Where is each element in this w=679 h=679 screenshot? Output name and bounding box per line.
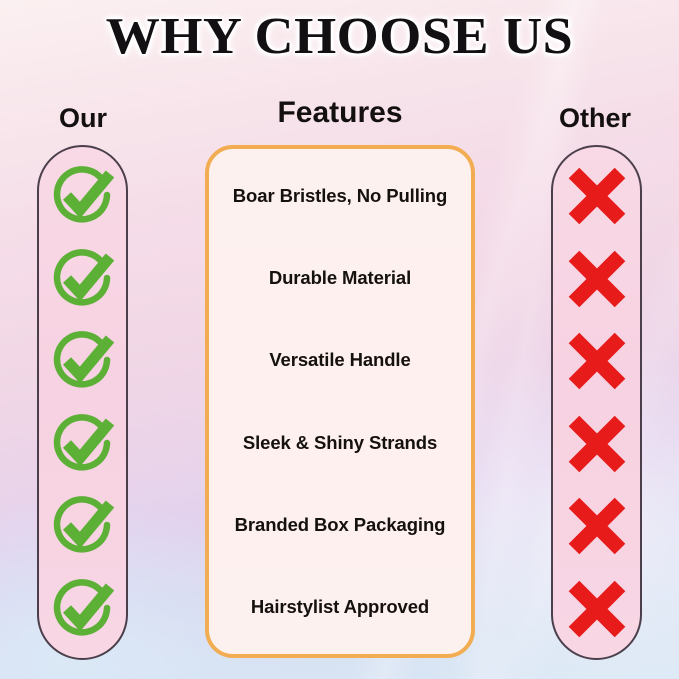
cross-icon: [568, 167, 626, 225]
check-mark-cell: [47, 243, 119, 315]
check-icon: [50, 411, 116, 477]
cross-mark-cell: [561, 243, 633, 315]
feature-row: Hairstylist Approved: [209, 577, 471, 637]
check-icon: [50, 328, 116, 394]
cross-icon: [568, 415, 626, 473]
cross-icon: [568, 580, 626, 638]
cross-mark-cell: [561, 325, 633, 397]
column-header-features: Features: [220, 96, 460, 130]
feature-label: Branded Box Packaging: [235, 514, 446, 536]
page-title: WHY CHOOSE US: [0, 10, 679, 65]
cross-icon: [568, 250, 626, 308]
cross-mark-cell: [561, 160, 633, 232]
why-choose-us-comparison-poster: WHY CHOOSE US Our Features Other: [0, 0, 679, 679]
feature-row: Boar Bristles, No Pulling: [209, 166, 471, 226]
feature-row: Versatile Handle: [209, 330, 471, 390]
feature-label: Boar Bristles, No Pulling: [233, 185, 447, 207]
feature-label: Sleek & Shiny Strands: [243, 432, 437, 454]
check-mark-cell: [47, 408, 119, 480]
check-mark-cell: [47, 325, 119, 397]
check-mark-cell: [47, 573, 119, 645]
other-column-pill: [551, 145, 642, 660]
check-icon: [50, 163, 116, 229]
cross-icon: [568, 497, 626, 555]
feature-label: Durable Material: [269, 267, 411, 289]
cross-mark-cell: [561, 408, 633, 480]
column-header-our: Our: [13, 103, 153, 134]
feature-row: Branded Box Packaging: [209, 495, 471, 555]
check-mark-cell: [47, 490, 119, 562]
feature-row: Sleek & Shiny Strands: [209, 413, 471, 473]
cross-mark-cell: [561, 573, 633, 645]
feature-label: Versatile Handle: [269, 349, 410, 371]
check-icon: [50, 493, 116, 559]
our-column-pill: [37, 145, 128, 660]
check-icon: [50, 576, 116, 642]
cross-icon: [568, 332, 626, 390]
features-panel: Boar Bristles, No Pulling Durable Materi…: [205, 145, 475, 658]
feature-label: Hairstylist Approved: [251, 596, 429, 618]
check-icon: [50, 246, 116, 312]
column-header-other: Other: [525, 103, 665, 134]
feature-row: Durable Material: [209, 248, 471, 308]
check-mark-cell: [47, 160, 119, 232]
cross-mark-cell: [561, 490, 633, 562]
